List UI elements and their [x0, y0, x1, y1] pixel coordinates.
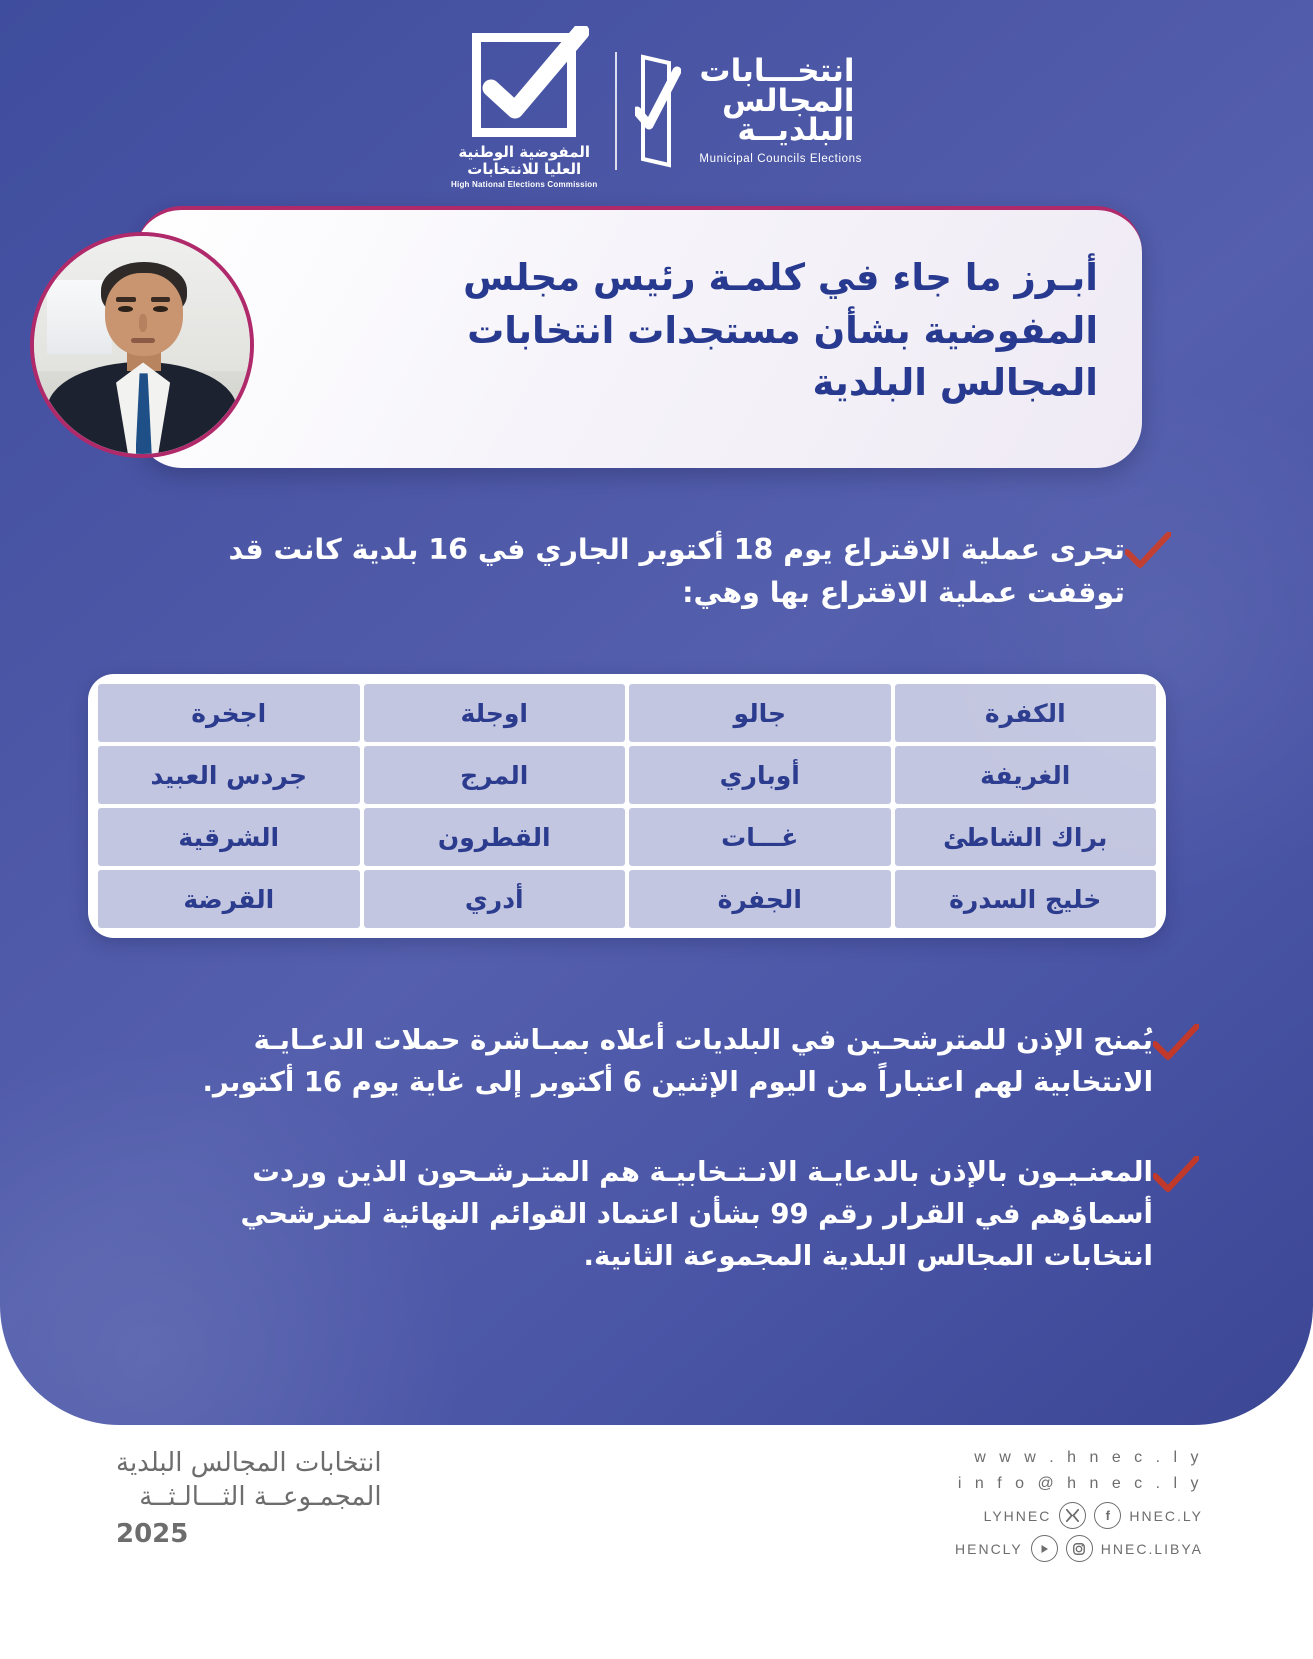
bullet-item-1: تجرى عملية الاقتراع يوم 18 أكتوبر الجاري… [145, 528, 1175, 615]
social-handle-hnec-ly: HNEC.LY [1129, 1508, 1203, 1524]
municipalities-table-wrapper: الكفرة جالو اوجلة اجخرة الغريفة أوباري ا… [88, 674, 1166, 938]
hnec-logo-arabic: المفوضية الوطنية العليا للانتخابات [458, 144, 590, 178]
table-row: الكفرة جالو اوجلة اجخرة [98, 684, 1156, 742]
table-cell: اجخرة [98, 684, 360, 742]
logo-divider [615, 52, 617, 170]
footer: انتخابات المجالس البلدية المجمـوعــة الث… [0, 1425, 1313, 1659]
bullet-text-1: تجرى عملية الاقتراع يوم 18 أكتوبر الجاري… [165, 528, 1125, 615]
municipal-logo-arabic: انتخـــابات المجالس البلديــة [699, 57, 854, 146]
social-handle-hnec-libya: HNEC.LIBYA [1101, 1541, 1203, 1557]
infographic-poster: انتخـــابات المجالس البلديــة Municipal … [0, 0, 1313, 1659]
header-card: أبـرز ما جاء في كلمـة رئيس مجلس المفوضية… [136, 206, 1142, 468]
footer-campaign-line1: انتخابات المجالس البلدية [116, 1447, 382, 1481]
municipalities-table: الكفرة جالو اوجلة اجخرة الغريفة أوباري ا… [94, 680, 1160, 932]
logo-row: انتخـــابات المجالس البلديــة Municipal … [0, 36, 1313, 186]
footer-email[interactable]: i n f o @ h n e c . l y [955, 1471, 1203, 1497]
table-cell: أوباري [629, 746, 891, 804]
facebook-icon[interactable]: f [1094, 1502, 1121, 1529]
table-cell: أدري [364, 870, 626, 928]
table-cell: اوجلة [364, 684, 626, 742]
footer-campaign-line2: المجمـوعــة الثـــالـثــة [116, 1481, 382, 1515]
avatar [30, 232, 254, 458]
main-blue-panel: انتخـــابات المجالس البلديــة Municipal … [0, 0, 1313, 1425]
hnec-logo: المفوضية الوطنية العليا للانتخابات High … [451, 33, 597, 190]
table-cell: الغريفة [895, 746, 1157, 804]
footer-contact-block: w w w . h n e c . l y i n f o @ h n e c … [955, 1445, 1203, 1562]
social-handle-hencly: HENCLY [955, 1541, 1023, 1557]
social-row-2: HENCLY HNEC.LIBYA [955, 1535, 1203, 1562]
hnec-logo-english: High National Elections Commission [451, 180, 597, 189]
social-row-1: LYHNEC f HNEC.LY [955, 1502, 1203, 1529]
bullet-item-2: يُمنح الإذن للمترشحـين في البلديات أعلاه… [143, 1020, 1203, 1104]
table-cell: خليج السدرة [895, 870, 1157, 928]
table-cell: المرج [364, 746, 626, 804]
bullet-item-3: المعنـيـون بالإذن بالدعايـة الانـتـخابيـ… [143, 1152, 1203, 1277]
municipal-logo-english: Municipal Councils Elections [699, 153, 862, 165]
footer-website[interactable]: w w w . h n e c . l y [955, 1445, 1203, 1471]
table-cell: القرضة [98, 870, 360, 928]
bullet-text-3: المعنـيـون بالإذن بالدعايـة الانـتـخابيـ… [163, 1152, 1153, 1277]
table-row: خليج السدرة الجفرة أدري القرضة [98, 870, 1156, 928]
x-twitter-icon[interactable] [1059, 1502, 1086, 1529]
table-cell: القطرون [364, 808, 626, 866]
table-cell: غـــات [629, 808, 891, 866]
check-tick-icon [1153, 1024, 1199, 1064]
table-row: براك الشاطئ غـــات القطرون الشرقية [98, 808, 1156, 866]
social-handle-lyhnec: LYHNEC [984, 1508, 1052, 1524]
table-cell: براك الشاطئ [895, 808, 1157, 866]
table-cell: الكفرة [895, 684, 1157, 742]
table-row: الغريفة أوباري المرج جردس العبيد [98, 746, 1156, 804]
table-cell: جردس العبيد [98, 746, 360, 804]
table-cell: جالو [629, 684, 891, 742]
check-tick-icon [1153, 1156, 1199, 1196]
municipal-elections-logo: انتخـــابات المجالس البلديــة Municipal … [685, 57, 862, 165]
youtube-icon[interactable] [1031, 1535, 1058, 1562]
checkmark-box-icon [472, 33, 576, 137]
page-title: أبـرز ما جاء في كلمـة رئيس مجلس المفوضية… [408, 252, 1098, 410]
footer-year: 2025 [116, 1519, 382, 1549]
check-tick-icon [1125, 532, 1171, 572]
table-cell: الجفرة [629, 870, 891, 928]
footer-campaign-block: انتخابات المجالس البلدية المجمـوعــة الث… [116, 1447, 382, 1549]
bullet-text-2: يُمنح الإذن للمترشحـين في البلديات أعلاه… [163, 1020, 1153, 1104]
table-cell: الشرقية [98, 808, 360, 866]
ballot-tick-mark-icon [635, 53, 681, 169]
instagram-icon[interactable] [1066, 1535, 1093, 1562]
